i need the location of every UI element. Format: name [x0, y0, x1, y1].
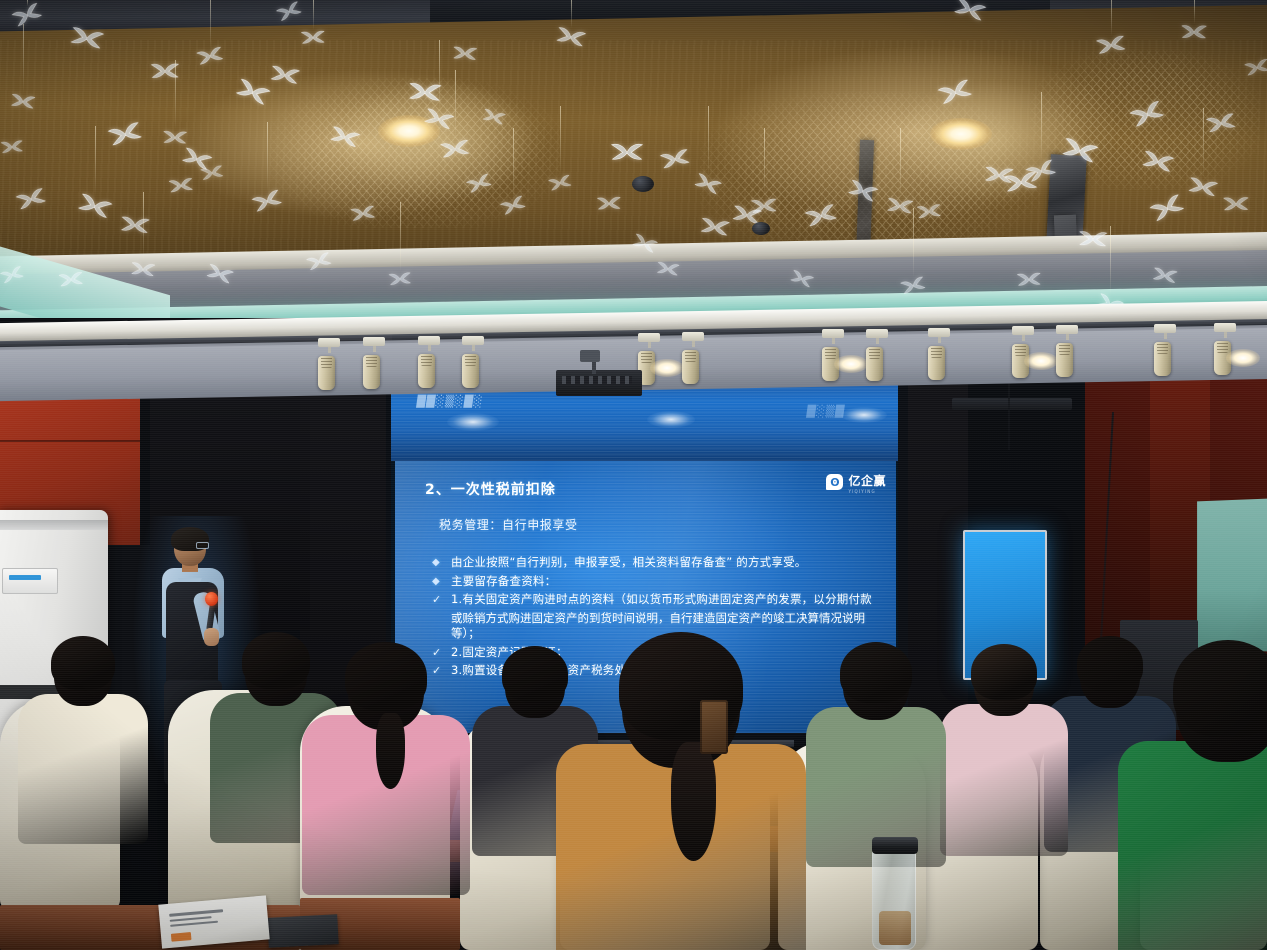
spotlight-mount — [1154, 324, 1176, 333]
audience-hair — [971, 644, 1037, 700]
spotlight-head — [866, 347, 883, 381]
spotlight-beam — [1024, 352, 1058, 370]
spotlight-arm — [692, 341, 695, 347]
spotlight-arm — [832, 338, 835, 344]
band-reflection-2 — [647, 411, 695, 428]
bottle-tea-leaves — [879, 911, 911, 945]
spotlight-head — [928, 346, 945, 380]
bird-hanging-wire — [560, 106, 561, 176]
spotlight-mount — [682, 332, 704, 341]
ceiling-downlight-right — [930, 118, 992, 150]
audience-torso — [940, 704, 1068, 856]
audience-ponytail — [376, 713, 405, 789]
check-bullet-icon: ✓ — [429, 663, 451, 678]
spotlight-mount — [1012, 326, 1034, 335]
bullet-row: ◆ 由企业按照“自行判别，申报享受，相关资料留存备查” 的方式享受。 — [429, 555, 884, 571]
spotlight-head — [462, 354, 479, 388]
spotlight-head — [418, 354, 435, 388]
bullet-text: 由企业按照“自行判别，申报享受，相关资料留存备查” 的方式享受。 — [451, 555, 806, 571]
crystal-bird-icon — [1222, 196, 1250, 211]
crystal-bird-icon — [0, 139, 25, 154]
bottle-cap — [872, 837, 918, 854]
ceiling-dome-camera-2 — [752, 222, 770, 235]
audience-hair — [502, 646, 568, 702]
ceiling-projector — [556, 370, 642, 396]
glasses-icon — [196, 542, 209, 549]
track-spotlight[interactable] — [462, 336, 484, 388]
track-spotlight[interactable] — [822, 329, 844, 381]
bird-hanging-wire — [455, 70, 456, 140]
speech-bubble-icon: ʘ — [826, 474, 843, 490]
spotlight-arm — [1022, 335, 1025, 341]
ceiling-area — [0, 0, 1267, 330]
logo-word: 亿企赢 — [848, 474, 886, 488]
spotlight-mount — [638, 333, 660, 342]
band-reflection-3 — [841, 407, 887, 423]
audience-hair — [242, 632, 310, 689]
spotlight-arm — [876, 338, 879, 344]
bird-hanging-wire — [1110, 226, 1111, 296]
dark-column-right — [906, 330, 968, 760]
crystal-bird-icon — [885, 196, 915, 214]
hair-clip-icon — [700, 700, 728, 754]
crystal-bird-icon — [1180, 24, 1208, 39]
bird-hanging-wire — [439, 40, 440, 110]
track-spotlight[interactable] — [682, 332, 704, 384]
audience-hair — [1173, 640, 1267, 737]
bullet-text: 1.有关固定资产购进时点的资料（如以货币形式购进固定资产的发票，以分期付款 — [451, 592, 872, 608]
bird-hanging-wire — [143, 192, 144, 262]
audience-hair — [1077, 636, 1143, 692]
spotlight-arm — [1224, 332, 1227, 338]
slide-subtitle: 税务管理：自行申报享受 — [439, 516, 578, 533]
bullet-text: 主要留存备查资料： — [451, 574, 556, 590]
spotlight-mount — [1056, 325, 1078, 334]
bird-hanging-wire — [1111, 0, 1112, 36]
spotlight-arm — [428, 345, 431, 351]
spotlight-mount — [462, 336, 484, 345]
spotlight-head — [363, 355, 380, 389]
ceiling-speaker-bar — [952, 398, 1072, 410]
track-spotlight[interactable] — [1154, 324, 1176, 376]
track-spotlight[interactable] — [363, 337, 385, 389]
handout-dark — [267, 914, 338, 948]
led-screen-upper-band: ██░▒░█░ █░▒█ — [389, 383, 902, 461]
brand-logo: ʘ 亿企赢 YIQIYING — [826, 470, 886, 494]
crystal-bird-icon — [129, 261, 156, 278]
bird-hanging-wire — [1194, 0, 1195, 24]
bird-hanging-wire — [708, 106, 709, 176]
spotlight-mount — [318, 338, 340, 347]
spotlight-mount — [363, 337, 385, 346]
crystal-bird-icon — [596, 196, 622, 211]
spotlight-arm — [1066, 334, 1069, 340]
audience-hair — [51, 636, 115, 690]
slide-title: 2、一次性税前扣除 — [425, 479, 556, 499]
audience-hair — [345, 642, 427, 711]
band-glare-logo: █░▒█ — [806, 405, 846, 418]
check-bullet-icon: ✓ — [429, 645, 451, 660]
crystal-bird-icon — [300, 29, 327, 44]
seminar-room-photo: ██░▒░█░ █░▒█ ʘ 亿企赢 YIQIYING 2、一次性税前扣除 税务… — [0, 0, 1267, 950]
bird-hanging-wire — [900, 128, 901, 198]
crystal-bird-icon — [387, 271, 412, 286]
crystal-bird-icon — [452, 45, 479, 61]
bird-hanging-wire — [313, 0, 314, 30]
green-wall-panel — [1197, 499, 1267, 652]
band-glare-text: ██░▒░█░ — [416, 395, 484, 408]
spotlight-beam — [834, 355, 868, 373]
crystal-bird-icon — [610, 142, 644, 161]
crystal-bird-icon — [915, 203, 942, 220]
bird-hanging-wire — [1041, 92, 1042, 162]
spotlight-mount — [1214, 323, 1236, 332]
crystal-bird-icon — [119, 214, 151, 234]
glass-tea-bottle — [872, 848, 916, 950]
crystal-bird-icon — [750, 197, 779, 214]
bird-hanging-wire — [23, 24, 24, 94]
spotlight-head — [1056, 343, 1073, 377]
crystal-bird-icon — [162, 130, 188, 145]
spotlight-arm — [1164, 333, 1167, 339]
logo-text-wrap: 亿企赢 YIQIYING — [848, 470, 886, 494]
bird-hanging-wire — [571, 0, 572, 28]
bullet-row: ✓ 1.有关固定资产购进时点的资料（如以货币形式购进固定资产的发票，以分期付款 — [429, 592, 884, 608]
bird-hanging-wire — [513, 128, 514, 198]
spotlight-head — [1154, 342, 1171, 376]
training-handout — [158, 895, 269, 948]
audience-hair — [840, 642, 912, 703]
spotlight-arm — [373, 346, 376, 352]
spotlight-head — [682, 350, 699, 384]
ac-vent-top — [0, 520, 108, 530]
audience-ponytail — [671, 742, 716, 861]
wall-seam-left — [0, 440, 140, 442]
ceiling-dome-camera-1 — [632, 176, 654, 192]
spotlight-arm — [472, 345, 475, 351]
track-spotlight[interactable] — [1214, 323, 1236, 375]
spotlight-mount — [928, 328, 950, 337]
projector-lens-housing — [580, 350, 600, 362]
track-spotlight[interactable] — [1056, 325, 1078, 377]
spotlight-arm — [648, 342, 651, 348]
bird-hanging-wire — [267, 122, 268, 192]
ac-control-panel[interactable] — [2, 568, 58, 594]
presenter-hand — [204, 628, 219, 646]
bird-hanging-wire — [210, 0, 211, 48]
microphone-windscreen — [205, 592, 218, 606]
track-spotlight[interactable] — [1012, 326, 1034, 378]
spotlight-beam — [1226, 349, 1260, 367]
diamond-bullet-icon: ◆ — [429, 574, 451, 589]
spotlight-mount — [866, 329, 888, 338]
check-bullet-icon: ✓ — [429, 592, 451, 607]
spotlight-beam — [650, 359, 684, 377]
logo-subtitle: YIQIYING — [848, 489, 886, 494]
spotlight-mount — [822, 329, 844, 338]
bullet-text-line2: 或赊销方式购进固定资产的到货时间说明，自行建造固定资产的竣工决算情况说明 — [451, 611, 884, 627]
bird-hanging-wire — [913, 208, 914, 278]
spotlight-head — [318, 356, 335, 390]
bird-hanging-wire — [27, 0, 28, 6]
bullet-row: ◆ 主要留存备查资料： — [429, 574, 884, 590]
track-spotlight[interactable] — [866, 329, 888, 381]
diamond-bullet-icon: ◆ — [429, 555, 451, 570]
spotlight-arm — [328, 347, 331, 353]
track-spotlight[interactable] — [318, 338, 340, 390]
spotlight-arm — [938, 337, 941, 343]
bird-hanging-wire — [400, 202, 401, 272]
spotlight-mount — [418, 336, 440, 345]
crystal-bird-icon — [1016, 271, 1043, 286]
bird-hanging-wire — [175, 60, 176, 130]
bird-hanging-wire — [764, 128, 765, 198]
track-spotlight[interactable] — [928, 328, 950, 380]
crystal-bird-icon — [1078, 229, 1109, 248]
bird-hanging-wire — [95, 126, 96, 196]
audience-torso — [18, 694, 148, 844]
track-spotlight[interactable] — [418, 336, 440, 388]
audience-torso — [1118, 741, 1267, 950]
bird-hanging-wire — [1203, 108, 1204, 178]
band-reflection-1 — [447, 413, 499, 431]
crystal-bird-icon — [407, 81, 442, 102]
